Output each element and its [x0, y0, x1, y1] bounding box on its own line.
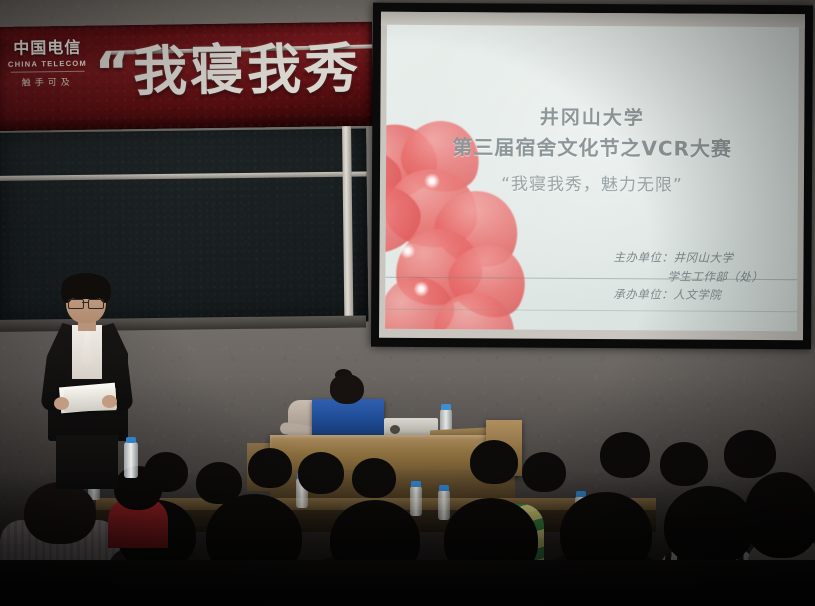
credit-line-1: 主办单位：井冈山大学: [613, 250, 733, 265]
presenter-left-hand: [54, 397, 69, 410]
audience-head: [352, 458, 396, 498]
banner-headline: “我寝我秀 魅: [94, 28, 373, 112]
presenter-legs: [56, 435, 118, 489]
blackboard-middle-rail: [0, 171, 367, 181]
presenter-right-hand: [102, 395, 117, 408]
slide-title-line2: 第三届宿舍文化节之VCR大赛: [386, 131, 798, 164]
audience-head: [248, 448, 292, 488]
water-bottle: [438, 490, 450, 520]
audience-head: [724, 430, 776, 478]
audience-head: [330, 374, 364, 404]
audience-head: [600, 432, 650, 478]
projector-lens: [390, 425, 400, 434]
china-telecom-logo: 中国电信 CHINA TELECOM 触手可及: [4, 40, 91, 89]
audience-head: [744, 472, 815, 558]
sponsor-slogan: 触手可及: [5, 75, 91, 89]
floor: [0, 560, 815, 606]
water-bottle: [410, 486, 422, 516]
glasses-bridge: [82, 302, 88, 303]
slide-title-line1: 井冈山大学: [386, 103, 798, 134]
audience-head: [470, 440, 518, 484]
presenter-figure: [40, 277, 140, 487]
audience-head: [664, 486, 754, 566]
audience-head: [660, 442, 708, 486]
credit-line-2: 学生工作部（处）: [613, 267, 763, 287]
slide-subtitle: “我寝我秀，魅力无限”: [386, 169, 798, 197]
laptop: [312, 399, 384, 439]
projection-screen-frame: 井冈山大学 第三届宿舍文化节之VCR大赛 “我寝我秀，魅力无限” 主办单位：井冈…: [371, 3, 813, 350]
sponsor-name-cn: 中国电信: [4, 40, 90, 57]
audience-head: [522, 452, 566, 492]
logo-divider: [11, 71, 85, 73]
credit-line-3: 承办单位：人文学院: [613, 287, 721, 302]
event-banner: 中国电信 CHINA TELECOM 触手可及 “我寝我秀 魅: [0, 22, 373, 131]
glasses-right-lens: [88, 299, 104, 309]
projected-slide: 井冈山大学 第三届宿舍文化节之VCR大赛 “我寝我秀，魅力无限” 主办单位：井冈…: [385, 25, 799, 332]
water-bottle: [124, 442, 138, 478]
photo-scene: 中国电信 CHINA TELECOM 触手可及 “我寝我秀 魅: [0, 0, 815, 606]
blackboard-slide-post: [342, 122, 353, 322]
slide-title-block: 井冈山大学 第三届宿舍文化节之VCR大赛: [386, 103, 798, 164]
slide-credits: 主办单位：井冈山大学 学生工作部（处） 承办单位：人文学院: [613, 248, 763, 305]
audience-head: [298, 452, 344, 494]
audience-head: [24, 482, 96, 544]
glasses-left-lens: [68, 299, 84, 309]
sponsor-name-en: CHINA TELECOM: [4, 59, 90, 69]
